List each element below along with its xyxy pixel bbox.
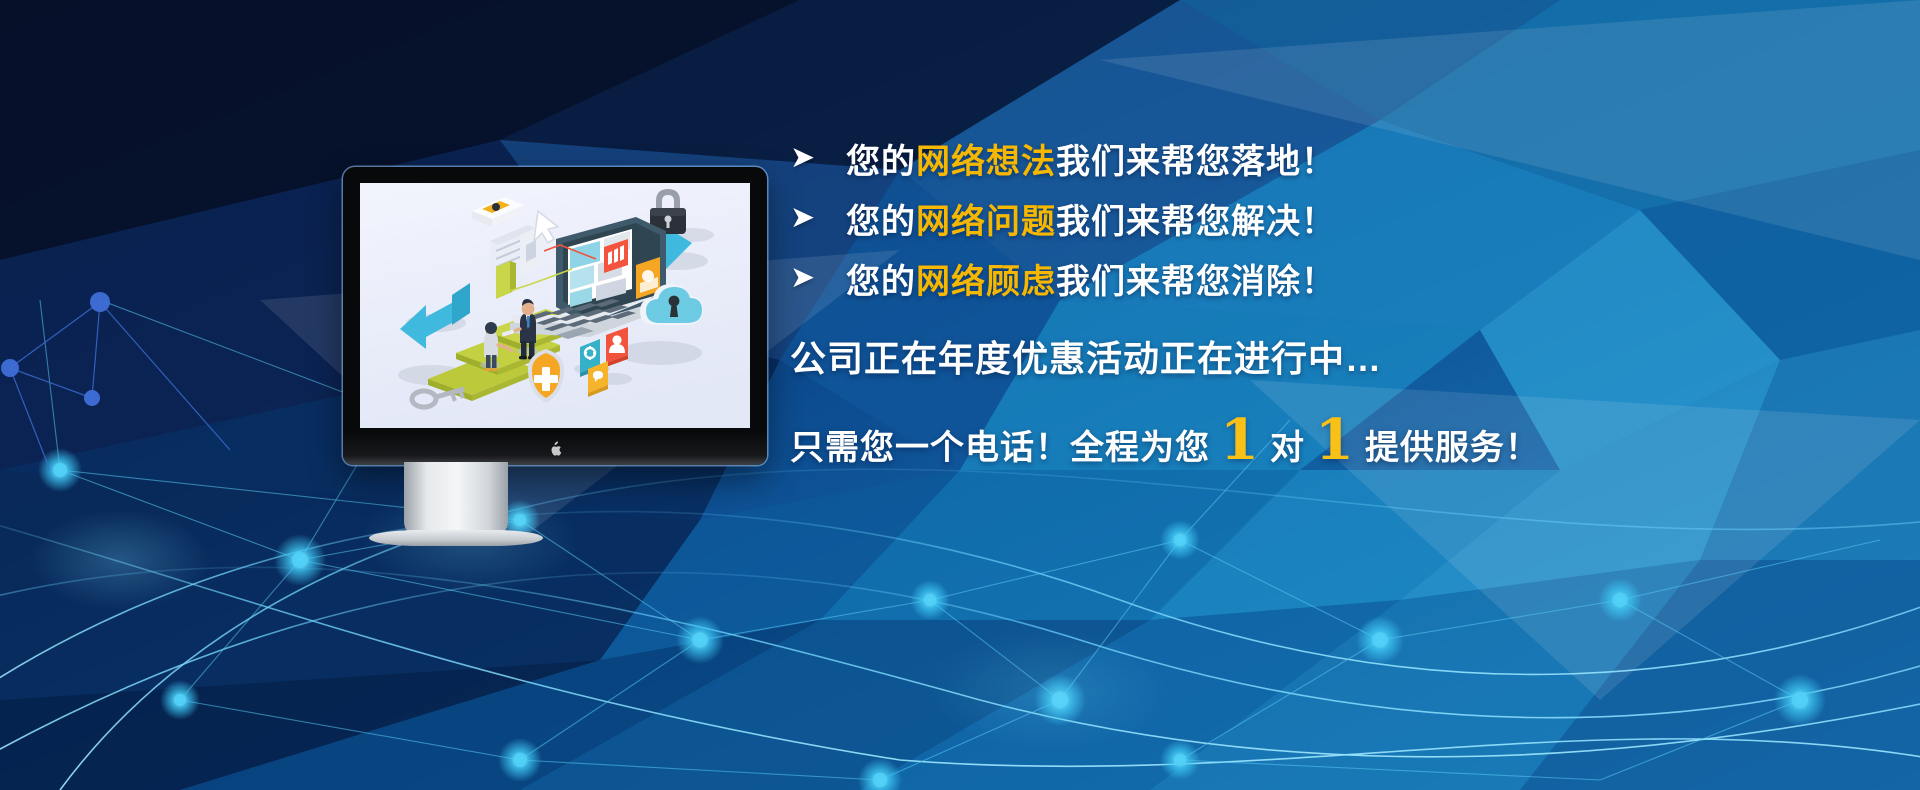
cta-line: 只需您一个电话！全程为您 1 对 1 提供服务！ bbox=[790, 412, 1850, 469]
apple-logo-icon bbox=[549, 441, 562, 457]
bullet-suffix: 我们来帮您解决！ bbox=[1056, 203, 1336, 241]
arrow-bullet-icon: ➤ bbox=[790, 143, 846, 173]
isometric-security-illustration bbox=[360, 183, 750, 428]
promo-line: 公司正在年度优惠活动正在进行中… bbox=[790, 330, 1850, 382]
arrow-bullet-icon: ➤ bbox=[790, 203, 846, 233]
monitor-screen bbox=[360, 183, 750, 428]
bullet-suffix: 我们来帮您落地！ bbox=[1056, 143, 1336, 181]
promo-banner: ➤ 您的网络想法我们来帮您落地！ ➤ 您的网络问题我们来帮您解决！ ➤ 您的网络… bbox=[0, 0, 1920, 790]
monitor-stand-base bbox=[369, 530, 543, 546]
bullet-row: ➤ 您的网络想法我们来帮您落地！ bbox=[790, 128, 1850, 188]
bullet-row: ➤ 您的网络顾虑我们来帮您消除！ bbox=[790, 248, 1850, 308]
cta-part2: 提供服务！ bbox=[1365, 420, 1540, 469]
bullet-prefix: 您的 bbox=[846, 143, 916, 181]
bullet-highlight: 网络顾虑 bbox=[916, 263, 1056, 301]
bullet-text: 您的网络顾虑我们来帮您消除！ bbox=[846, 254, 1336, 303]
bullet-text: 您的网络想法我们来帮您落地！ bbox=[846, 134, 1336, 183]
monitor-stand-neck bbox=[404, 462, 508, 536]
bullet-highlight: 网络想法 bbox=[916, 143, 1056, 181]
bullet-prefix: 您的 bbox=[846, 263, 916, 301]
cta-middle: 对 bbox=[1270, 420, 1305, 469]
bullet-highlight: 网络问题 bbox=[916, 203, 1056, 241]
bullet-suffix: 我们来帮您消除！ bbox=[1056, 263, 1336, 301]
copy-block: ➤ 您的网络想法我们来帮您落地！ ➤ 您的网络问题我们来帮您解决！ ➤ 您的网络… bbox=[790, 128, 1850, 469]
cta-digit-2: 1 bbox=[1315, 412, 1355, 468]
bullet-row: ➤ 您的网络问题我们来帮您解决！ bbox=[790, 188, 1850, 248]
cta-part1: 只需您一个电话！全程为您 bbox=[790, 420, 1210, 469]
bullet-text: 您的网络问题我们来帮您解决！ bbox=[846, 194, 1336, 243]
monitor-illustration bbox=[343, 167, 767, 465]
monitor-chin bbox=[343, 433, 767, 465]
arrow-bullet-icon: ➤ bbox=[790, 263, 846, 293]
bullet-prefix: 您的 bbox=[846, 203, 916, 241]
cta-digit-1: 1 bbox=[1220, 412, 1260, 468]
